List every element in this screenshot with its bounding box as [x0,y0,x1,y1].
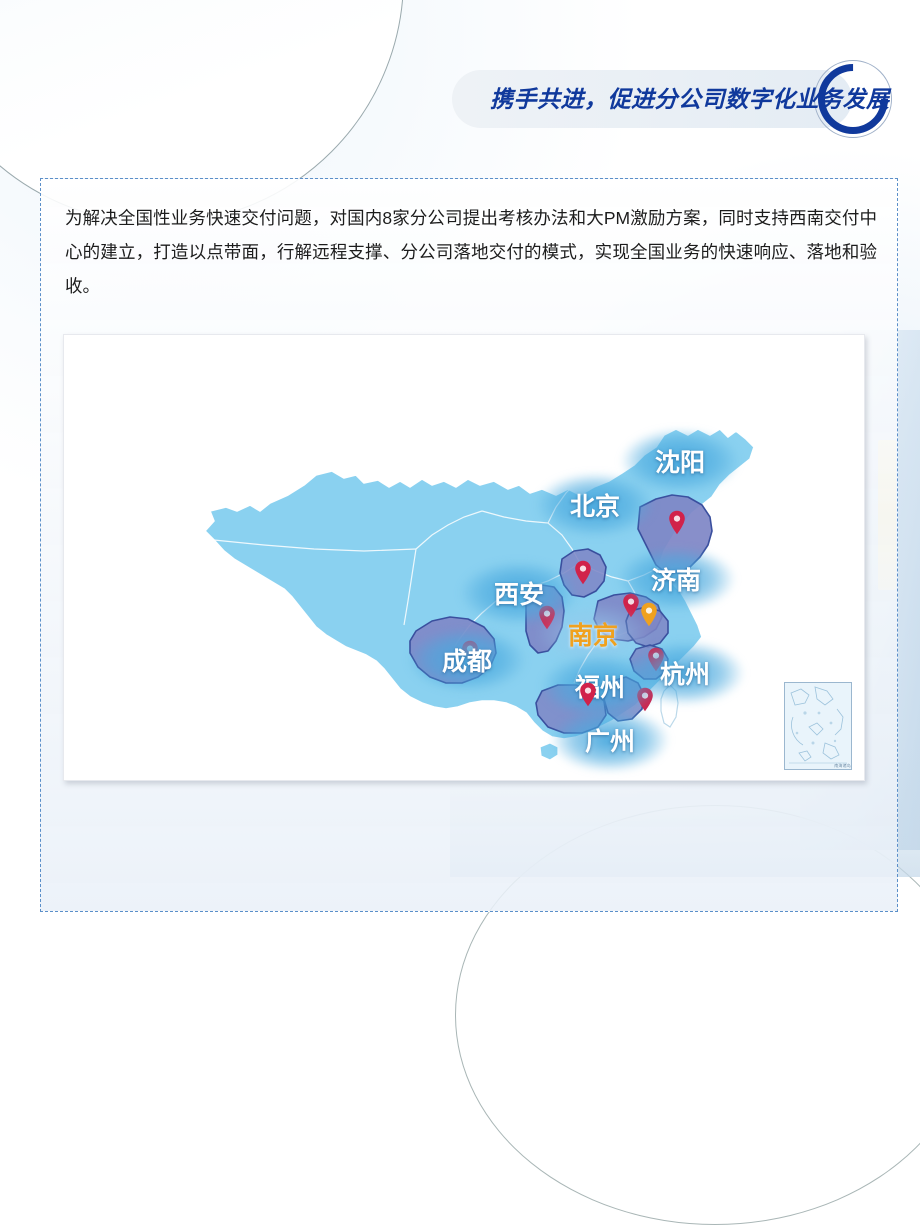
city-label-成都[interactable]: 成都 [442,642,492,678]
city-name-text: 西安 [494,575,544,611]
city-name-text: 济南 [651,561,701,597]
page-title: 携手共进，促进分公司数字化业务发展 [490,64,890,134]
header-title-banner: 携手共进，促进分公司数字化业务发展 [452,64,888,134]
city-label-杭州[interactable]: 杭州 [660,655,710,691]
city-name-text: 南京 [568,616,618,652]
city-name-text: 沈阳 [655,443,705,479]
city-label-西安[interactable]: 西安 [494,575,544,611]
map-panel: 沈阳北京济南西安南京成都杭州福州广州 [63,334,865,781]
content-card: 为解决全国性业务快速交付问题，对国内8家分公司提出考核办法和大PM激励方案，同时… [40,178,898,912]
map-pin-1[interactable] [574,560,592,585]
city-label-沈阳[interactable]: 沈阳 [655,443,705,479]
china-map-svg [64,335,864,780]
inset-map-south-china-sea [784,682,852,770]
map-stage: 沈阳北京济南西安南京成都杭州福州广州 [64,335,864,780]
city-label-南京[interactable]: 南京 [568,616,618,652]
city-name-text: 北京 [570,487,620,523]
city-name-text: 广州 [585,722,635,758]
body-paragraph: 为解决全国性业务快速交付问题，对国内8家分公司提出考核办法和大PM激励方案，同时… [65,201,877,303]
map-pin-0[interactable] [668,510,686,535]
city-label-北京[interactable]: 北京 [570,487,620,523]
city-label-济南[interactable]: 济南 [651,561,701,597]
city-name-text: 成都 [442,642,492,678]
city-label-广州[interactable]: 广州 [585,722,635,758]
city-name-text: 杭州 [660,655,710,691]
map-pin-8[interactable] [579,682,597,707]
inset-map-caption: 南海诸岛 [834,763,851,769]
inset-map-svg [785,683,851,769]
